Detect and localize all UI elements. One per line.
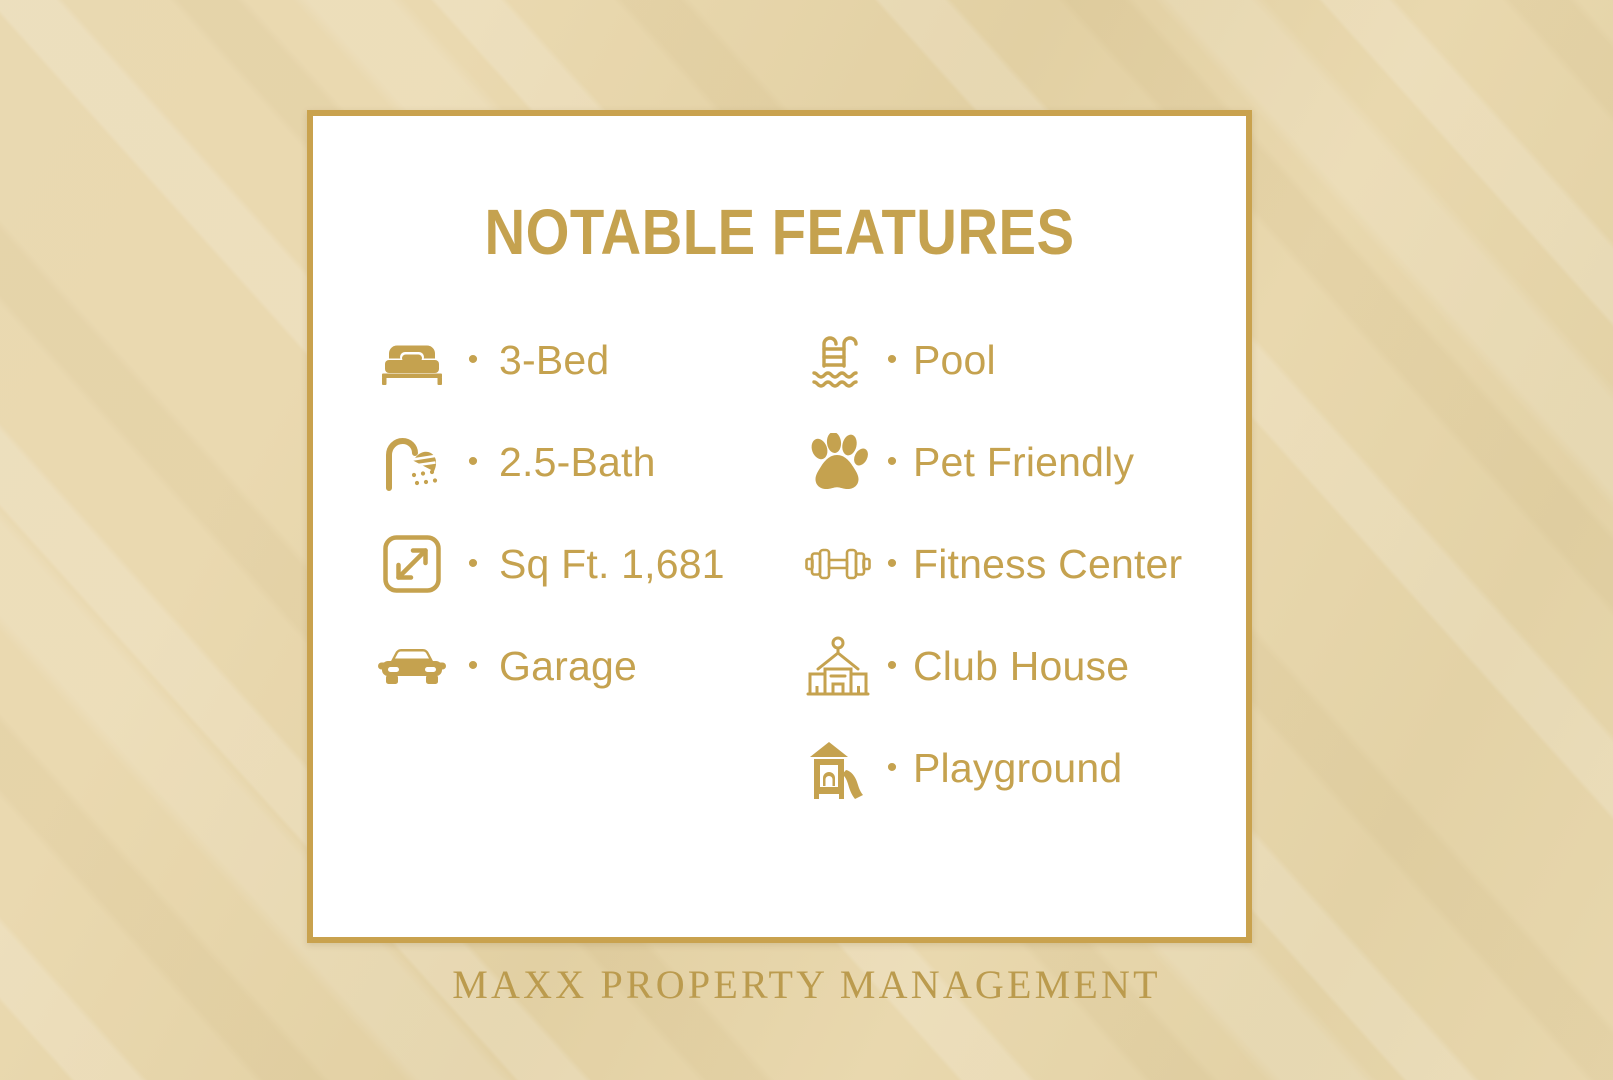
feature-label: Playground <box>909 746 1122 790</box>
feature-label: Fitness Center <box>909 542 1182 586</box>
car-icon <box>373 644 451 688</box>
dumbbell-icon <box>801 546 875 582</box>
feature-label: Sq Ft. 1,681 <box>495 542 725 586</box>
feature-row-fitness-center: • Fitness Center <box>801 513 1221 615</box>
feature-row-3-bed: • 3-Bed <box>373 309 783 411</box>
feature-label: Club House <box>909 644 1129 688</box>
shower-icon <box>373 433 451 491</box>
bed-icon <box>373 334 451 386</box>
feature-label: 3-Bed <box>495 338 609 382</box>
features-card: NOTABLE FEATURES • 3-Bed <box>307 110 1252 943</box>
feature-label: Garage <box>495 644 637 688</box>
feature-row-bath: • 2.5-Bath <box>373 411 783 513</box>
feature-label: 2.5-Bath <box>495 440 656 484</box>
feature-row-club-house: • Club House <box>801 615 1221 717</box>
area-icon <box>373 534 451 594</box>
features-left-column: • 3-Bed <box>373 309 783 819</box>
page-title: NOTABLE FEATURES <box>369 200 1190 264</box>
feature-row-pet-friendly: • Pet Friendly <box>801 411 1221 513</box>
feature-label: Pet Friendly <box>909 440 1134 484</box>
brand-footer: MAXX PROPERTY MANAGEMENT <box>0 963 1613 1007</box>
feature-row-playground: • Playground <box>801 717 1221 819</box>
playground-icon <box>801 737 875 799</box>
feature-row-pool: • Pool <box>801 309 1221 411</box>
clubhouse-icon <box>801 635 875 697</box>
features-right-column: • Pool • Pet Friendly <box>801 309 1221 819</box>
feature-row-garage: • Garage <box>373 615 783 717</box>
pool-icon <box>801 332 875 388</box>
feature-row-sqft: • Sq Ft. 1,681 <box>373 513 783 615</box>
paw-icon <box>801 433 875 491</box>
feature-label: Pool <box>909 338 996 382</box>
features-columns: • 3-Bed <box>313 309 1246 819</box>
